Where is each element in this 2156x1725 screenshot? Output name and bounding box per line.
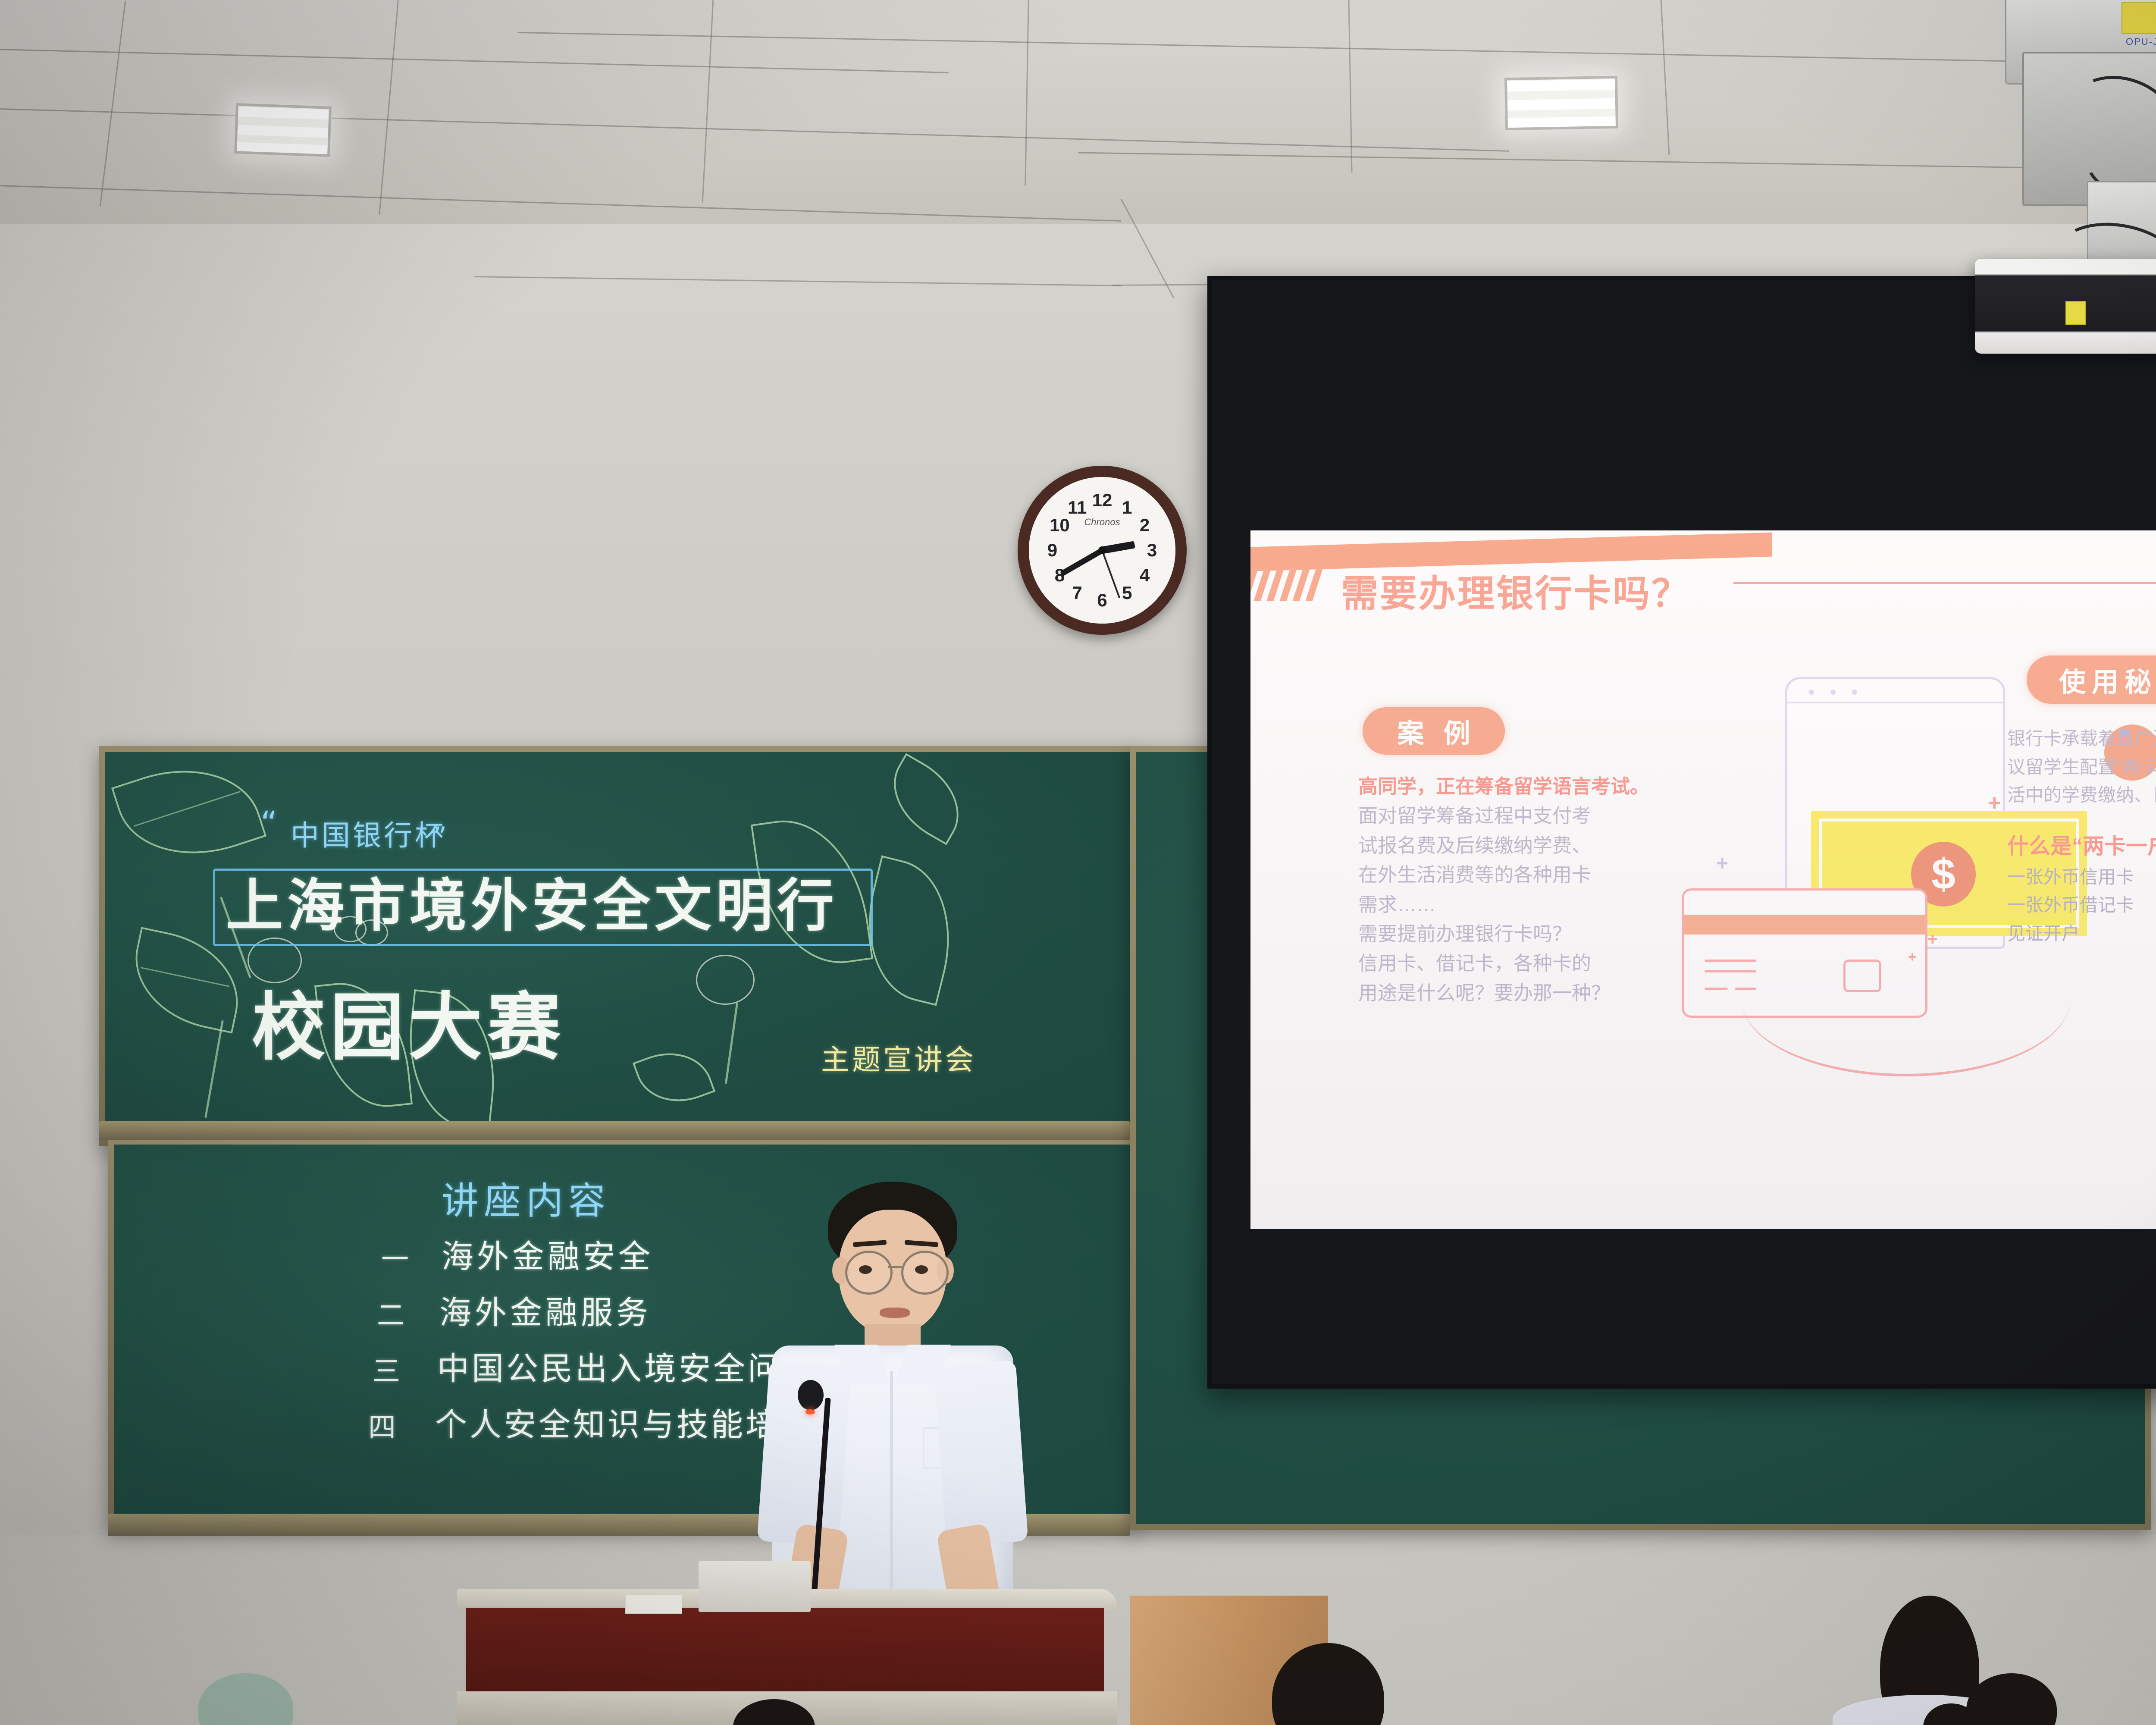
plus-sparkle-icon: + (1988, 790, 2001, 816)
agenda-title: 讲座内容 (442, 1170, 611, 1224)
tips-body-line: 活中的学费缴纳、日常线上线下消费。 (2007, 781, 2156, 809)
ceiling-light-panel (234, 103, 332, 157)
case-body-line: 需要提前办理银行卡吗？ (1358, 919, 1669, 949)
clock-numeral: 2 (1132, 512, 1158, 538)
case-column: 高同学，正在筹备留学语言考试。 面对留学筹备过程中支付考 试报名费及后续缴纳学费… (1358, 772, 1669, 1008)
decorative-swoosh (1742, 1000, 2070, 1076)
presenter-eye (915, 1265, 928, 1274)
chalk-leaf (111, 752, 266, 877)
projector-mount-label: OPU-JIA (2126, 36, 2156, 47)
case-body-line: 用途是什么呢？要办那一种？ (1358, 979, 1669, 1008)
plus-sparkle-icon: + (1908, 949, 1917, 966)
agenda-item-number: 二 (377, 1293, 404, 1333)
tips-question: 什么是“两卡一户”？ (2007, 829, 2156, 863)
blackboard-headline: 上海市境外安全文明行 (226, 860, 838, 942)
lectern-front-panel (466, 1608, 1104, 1694)
projection-screen: 需要办理银行卡吗？ 中国银行 BANK OF CHINA 案 例 高同学，正在筹… (1207, 276, 2156, 1389)
slide-title-rule (1733, 582, 2156, 584)
presenter-mouth (880, 1308, 910, 1318)
tips-body-line: 银行卡承载着最广泛的金融服务需求，建 (2007, 724, 2156, 753)
plus-sparkle-icon: + (1927, 930, 1937, 949)
tips-column: 银行卡承载着最广泛的金融服务需求，建 议留学生配置“两卡一户”，保障境外学习生 … (2007, 724, 2156, 947)
warning-label (2122, 2, 2156, 34)
microphone (798, 1380, 824, 1410)
case-body-line: 在外生活消费等的各种用卡 (1358, 860, 1669, 890)
clock-numeral: 9 (1039, 537, 1065, 563)
agenda-item-number: 三 (373, 1349, 400, 1389)
case-body-line: 试报名费及后续缴纳学费、 (1358, 831, 1669, 860)
agenda-item-text: 海外金融服务 (439, 1287, 652, 1333)
tips-list-item: 一张外币借记卡 (2007, 891, 2156, 919)
clock-numeral: 3 (1139, 537, 1165, 563)
tips-list-item: 见证开户 (2007, 919, 2156, 948)
presenter-eye (859, 1265, 872, 1274)
clock-hour-hand (1102, 541, 1135, 554)
clock-numeral: 12 (1089, 487, 1115, 513)
ceiling-light-panel (1504, 76, 1618, 131)
slide-surface: 需要办理银行卡吗？ 中国银行 BANK OF CHINA 案 例 高同学，正在筹… (1250, 530, 2156, 1229)
clock-numeral: 6 (1089, 587, 1115, 613)
slide-title-hatch-icon (1250, 568, 1332, 601)
blackboard-quote-close: ” (433, 821, 447, 853)
agenda-item-number: 四 (368, 1405, 396, 1445)
ceiling (0, 0, 2156, 241)
chalk-tray (99, 1121, 1130, 1140)
case-lead-text: 高同学，正在筹备留学语言考试。 (1358, 772, 1669, 801)
blackboard-upper-left: “ 中国银行杯 ” 上海市境外安全文明行 校园大赛 主题宣讲会 (99, 746, 1138, 1146)
laptop-on-lectern (699, 1561, 811, 1612)
slide-title: 需要办理银行卡吗？ (1341, 563, 1690, 617)
paper-sheet (625, 1595, 682, 1614)
tips-body-line: 议留学生配置“两卡一户”，保障境外学习生 (2007, 753, 2156, 781)
blackboard-quote-open: “ (260, 804, 277, 842)
microphone-led (805, 1409, 815, 1414)
case-body-line: 需求…… (1358, 890, 1669, 919)
chalk-flower (696, 955, 755, 1005)
clock-center-pin (1098, 546, 1106, 554)
case-pill-badge: 案 例 (1363, 707, 1505, 755)
case-body-line: 信用卡、借记卡，各种卡的 (1358, 949, 1669, 978)
presenter-sleeve (934, 1360, 1028, 1546)
classroom-scene: Chronos 12 1 2 3 4 5 6 7 8 9 10 11 (0, 0, 2156, 1725)
chalk-leaf (876, 753, 976, 845)
chalk-leaf (633, 1040, 715, 1115)
agenda-item-text: 海外金融安全 (442, 1231, 654, 1277)
lectern (457, 1552, 1117, 1725)
projector-sticker (2065, 301, 2086, 325)
presenter-glasses-bridge (888, 1266, 902, 1268)
blackboard-sponsor: 中国银行杯 (291, 812, 446, 854)
wall-clock: Chronos 12 1 2 3 4 5 6 7 8 9 10 11 (1018, 466, 1187, 635)
tips-pill-badge: 使用秘笈 (2027, 655, 2156, 704)
clock-numeral: 11 (1064, 495, 1090, 521)
blackboard-tagline: 主题宣讲会 (821, 1037, 976, 1078)
agenda-item-number: 一 (381, 1237, 409, 1277)
projector (1975, 259, 2156, 354)
tips-list-item: 一张外币信用卡 (2007, 863, 2156, 891)
blackboard-subhead: 校园大赛 (252, 968, 566, 1074)
case-body-line: 面对留学筹备过程中支付考 (1358, 801, 1669, 831)
credit-card-icon (1682, 888, 1927, 1018)
plus-sparkle-icon: + (1716, 852, 1728, 875)
